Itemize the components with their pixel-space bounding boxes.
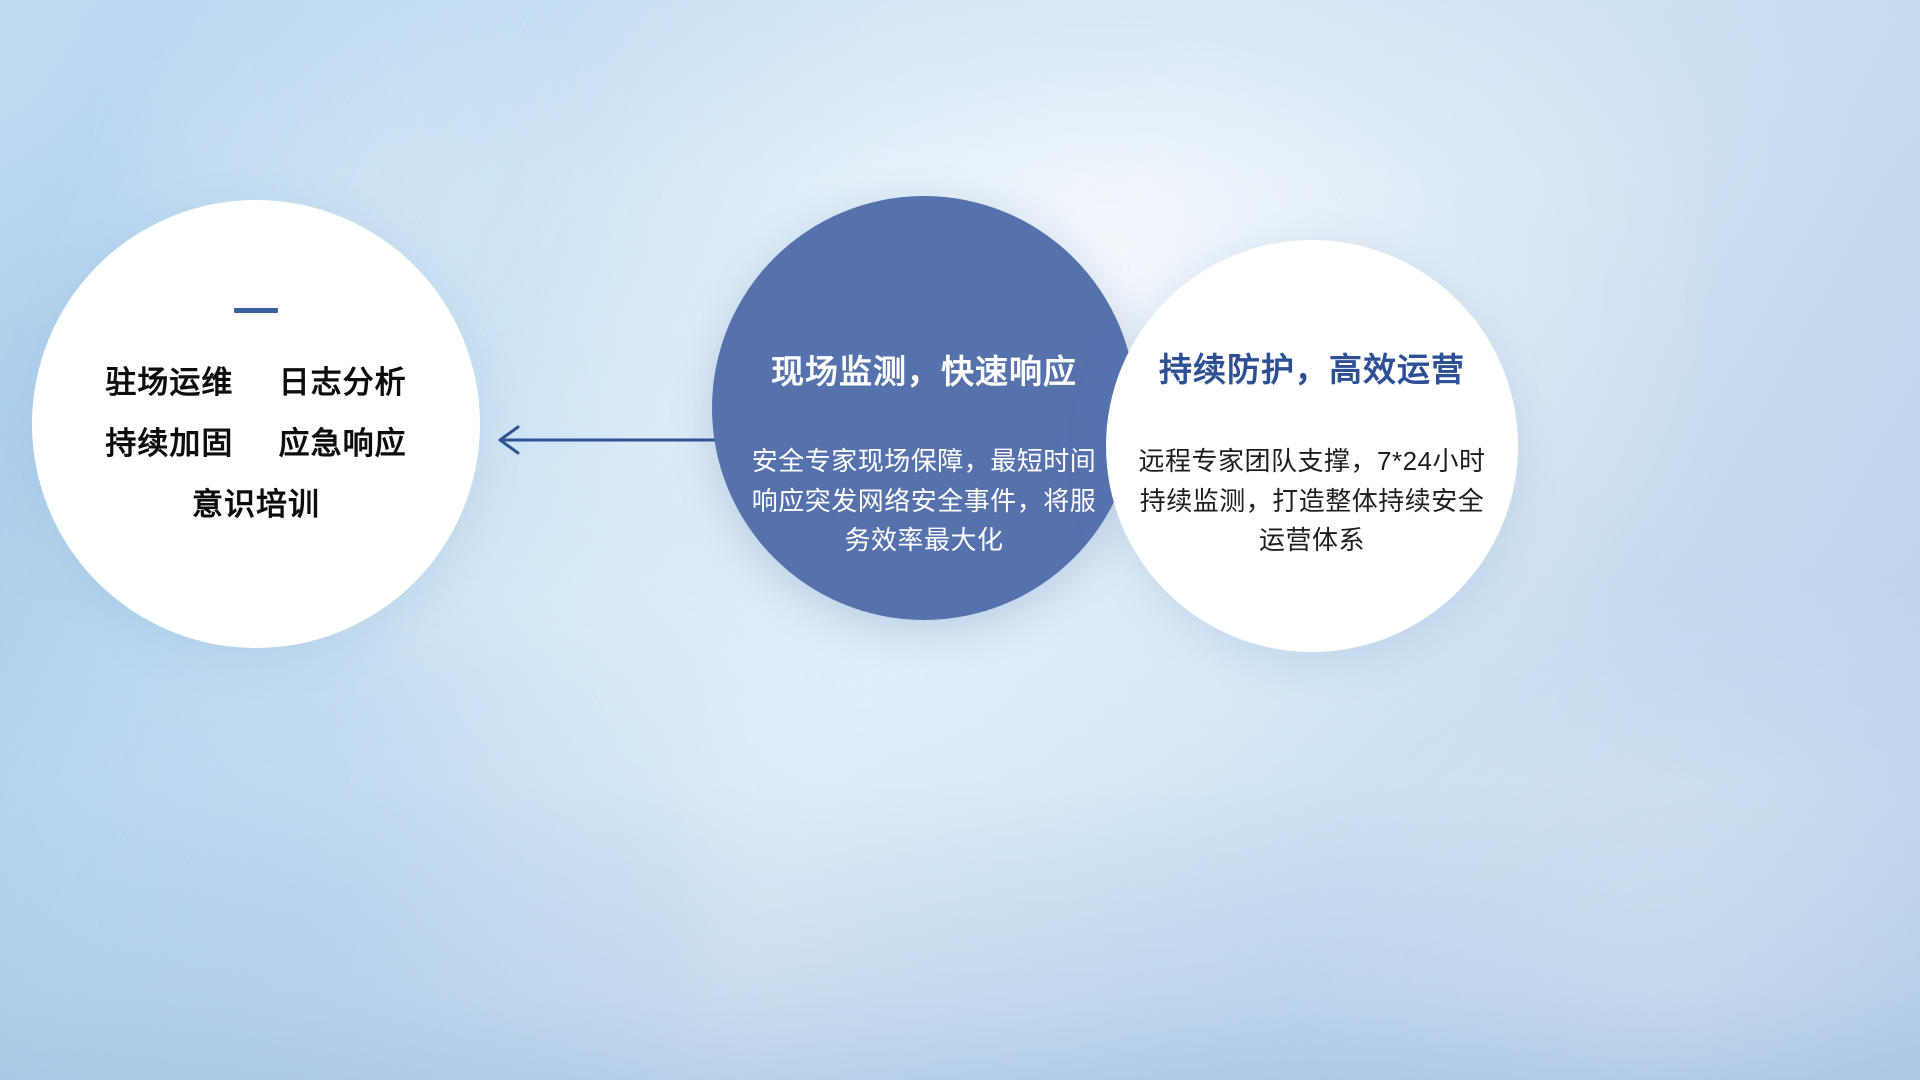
arrow-left-icon bbox=[480, 404, 740, 476]
onsite-monitoring-content: 现场监测，快速响应 安全专家现场保障，最短时间响应突发网络安全事件，将服务效率最… bbox=[750, 354, 1098, 561]
capability-row-3: 意识培训 bbox=[32, 489, 480, 520]
capability-tag-continuous-hardening: 持续加固 bbox=[105, 426, 233, 461]
onsite-monitoring-circle[interactable]: 现场监测，快速响应 安全专家现场保障，最短时间响应突发网络安全事件，将服务效率最… bbox=[712, 196, 1136, 620]
capability-row-1: 驻场运维 日志分析 bbox=[32, 367, 480, 398]
continuous-protection-content: 持续防护，高效运营 远程专家团队支撑，7*24小时持续监测，打造整体持续安全运营… bbox=[1128, 352, 1496, 561]
onsite-monitoring-body: 安全专家现场保障，最短时间响应突发网络安全事件，将服务效率最大化 bbox=[750, 442, 1098, 561]
capabilities-content: 驻场运维 日志分析 持续加固 应急响应 意识培训 bbox=[32, 308, 480, 520]
capabilities-circle[interactable]: 驻场运维 日志分析 持续加固 应急响应 意识培训 bbox=[32, 200, 480, 648]
capability-tag-log-analysis: 日志分析 bbox=[279, 365, 407, 400]
capability-row-2: 持续加固 应急响应 bbox=[32, 428, 480, 459]
continuous-protection-body: 远程专家团队支撑，7*24小时持续监测，打造整体持续安全运营体系 bbox=[1128, 442, 1496, 561]
background-vignette-bottom bbox=[0, 780, 1920, 1080]
capability-tag-emergency-response: 应急响应 bbox=[279, 426, 407, 461]
onsite-monitoring-title: 现场监测，快速响应 bbox=[750, 354, 1098, 390]
background-vignette-top bbox=[0, 0, 1920, 180]
capability-tag-awareness-training: 意识培训 bbox=[192, 487, 320, 522]
continuous-protection-circle[interactable]: 持续防护，高效运营 远程专家团队支撑，7*24小时持续监测，打造整体持续安全运营… bbox=[1106, 240, 1518, 652]
capability-tag-onsite-ops: 驻场运维 bbox=[105, 365, 233, 400]
title-rule-divider bbox=[234, 308, 278, 313]
continuous-protection-title: 持续防护，高效运营 bbox=[1128, 352, 1496, 388]
slide-canvas: 驻场运维 日志分析 持续加固 应急响应 意识培训 现场监测，快速响应 安全专家现… bbox=[0, 0, 1920, 1080]
